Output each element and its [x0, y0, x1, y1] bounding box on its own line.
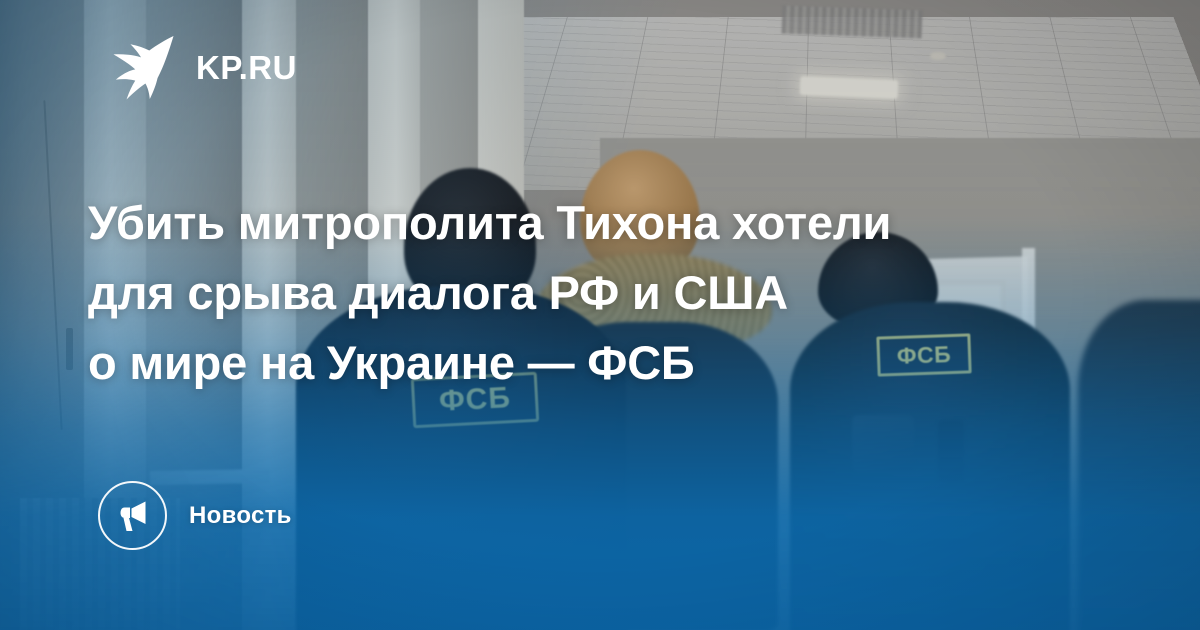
megaphone-icon-circle — [98, 481, 167, 550]
brand-name: KP.RU — [196, 51, 297, 84]
card-content: KP.RU Убить митрополита Тихона хотели дл… — [0, 0, 1200, 630]
social-share-card: ФСБ ФСБ KP.RU Убить митрополита Тихона х… — [0, 0, 1200, 630]
swallow-bird-icon — [112, 34, 174, 100]
brand-logo[interactable]: KP.RU — [112, 34, 297, 100]
content-type-label: Новость — [189, 502, 292, 530]
headline: Убить митрополита Тихона хотели для срыв… — [88, 188, 1098, 398]
content-type-badge[interactable]: Новость — [98, 481, 292, 550]
megaphone-icon — [115, 499, 151, 533]
